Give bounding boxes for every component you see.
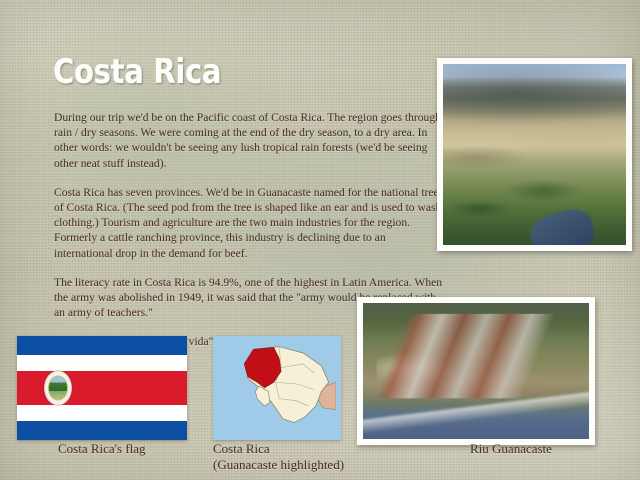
costa-rica-flag xyxy=(17,336,187,440)
flag-stripe-blue-bottom xyxy=(17,421,187,440)
flag-stripe-white-top xyxy=(17,355,187,371)
aerial-landscape-photo xyxy=(437,58,632,251)
caption-map-line2: (Guanacaste highlighted) xyxy=(213,457,344,473)
coat-of-arms-inner xyxy=(48,375,68,400)
paragraph-intro: During our trip we'd be on the Pacific c… xyxy=(54,110,444,171)
coat-of-arms-icon xyxy=(44,370,72,405)
map-svg xyxy=(226,342,336,434)
caption-resort: Riu Guanacaste xyxy=(470,441,552,457)
flag-stripe-blue-top xyxy=(17,336,187,355)
caption-flag: Costa Rica's flag xyxy=(58,441,146,457)
riu-guanacaste-resort-photo-image xyxy=(363,303,589,439)
flag-stripe-red xyxy=(17,371,187,404)
page-title: Costa Rica xyxy=(53,52,221,92)
slide-canvas: Costa Rica During our trip we'd be on th… xyxy=(0,0,640,480)
aerial-landscape-photo-image xyxy=(443,64,626,245)
flag-stripe-white-bottom xyxy=(17,405,187,421)
costa-rica-province-map xyxy=(213,336,341,440)
paragraph-provinces: Costa Rica has seven provinces. We'd be … xyxy=(54,185,444,261)
riu-guanacaste-resort-photo xyxy=(357,297,595,445)
caption-map-line1: Costa Rica xyxy=(213,441,344,457)
costa-rica-landmass xyxy=(226,342,336,434)
caption-map: Costa Rica (Guanacaste highlighted) xyxy=(213,441,344,473)
